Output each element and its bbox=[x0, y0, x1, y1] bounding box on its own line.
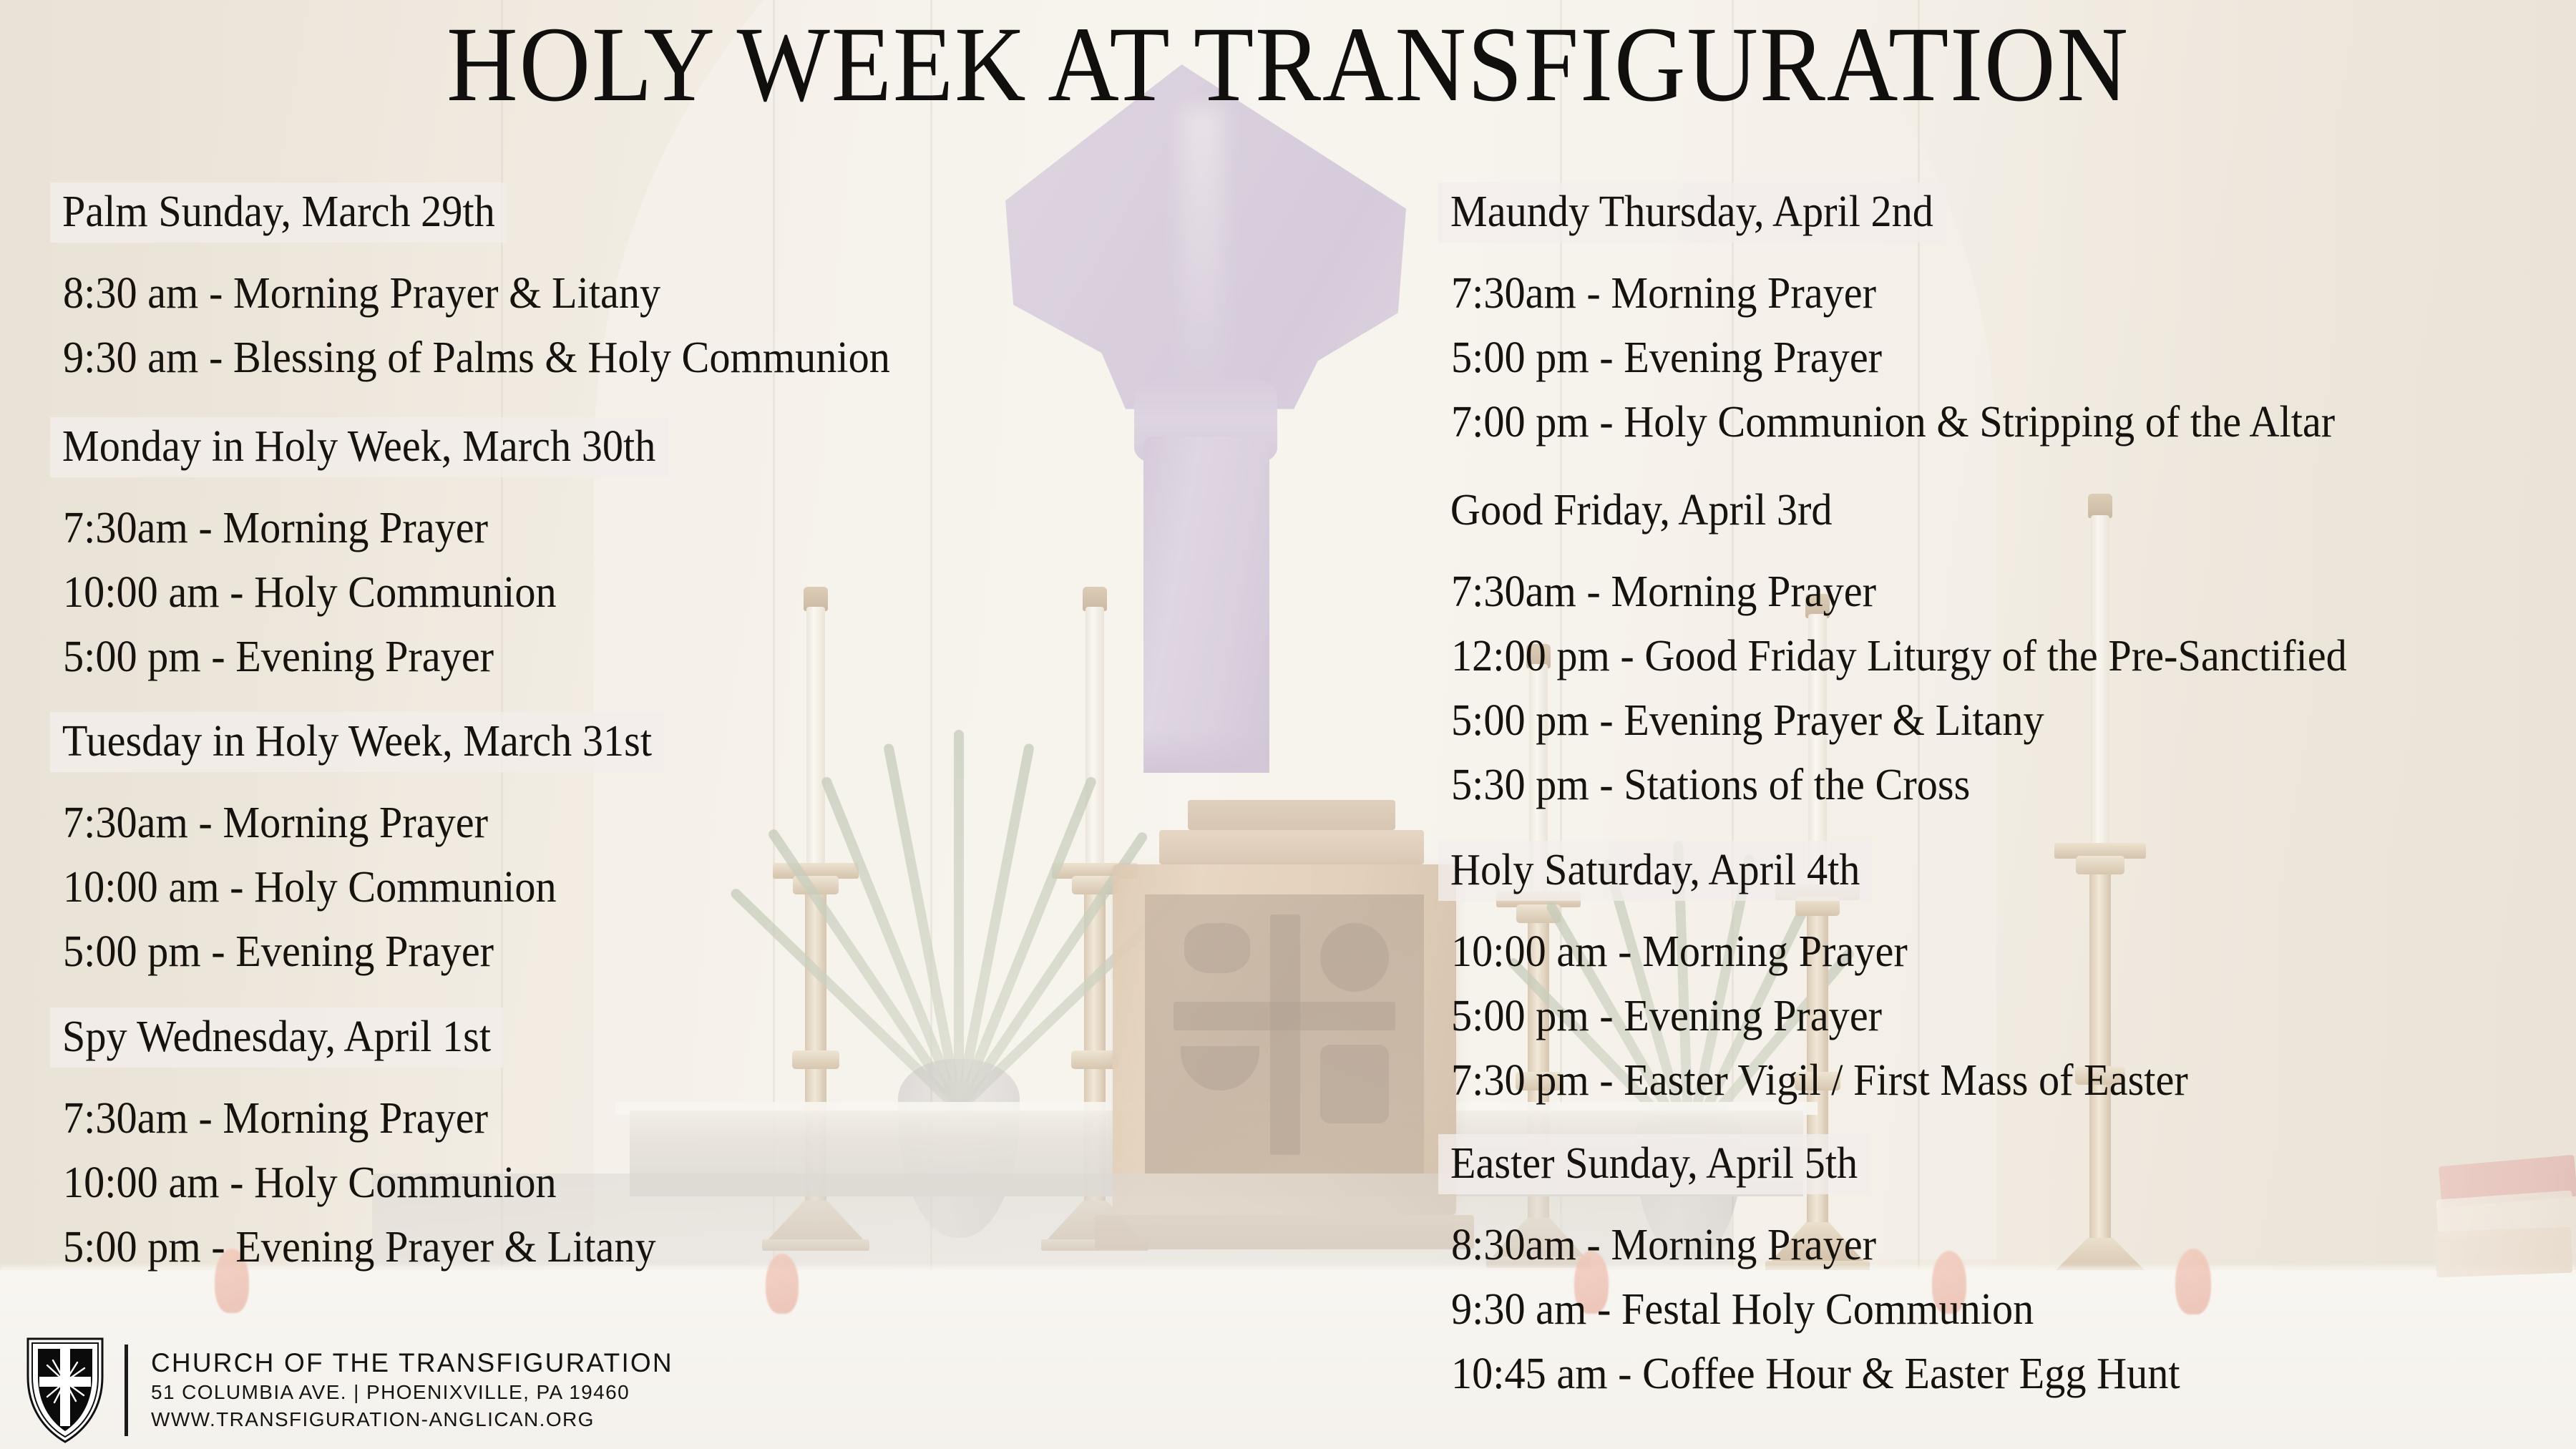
event-item: 10:00 am - Holy Communion bbox=[63, 865, 665, 909]
event-item: 7:30am - Morning Prayer bbox=[63, 1096, 656, 1141]
day-block-maundy-thursday: Maundy Thursday, April 2nd 7:30am - Morn… bbox=[1438, 182, 2391, 444]
day-block-tuesday: Tuesday in Holy Week, March 31st 7:30am … bbox=[50, 712, 703, 974]
event-item: 5:00 pm - Evening Prayer & Litany bbox=[63, 1225, 656, 1269]
event-item: 8:30 am - Morning Prayer & Litany bbox=[63, 271, 890, 316]
day-block-holy-saturday: Holy Saturday, April 4th 10:00 am - Morn… bbox=[1438, 841, 2235, 1103]
day-block-good-friday: Good Friday, April 3rd 7:30am - Morning … bbox=[1438, 481, 2404, 807]
event-item: 9:30 am - Festal Holy Communion bbox=[1451, 1287, 2180, 1332]
holy-week-poster: HOLY WEEK AT TRANSFIGURATION Palm Sunday… bbox=[0, 0, 2576, 1449]
day-block-easter-sunday: Easter Sunday, April 5th 8:30am - Mornin… bbox=[1438, 1134, 2227, 1396]
day-heading: Easter Sunday, April 5th bbox=[1438, 1134, 1870, 1194]
event-item: 10:00 am - Holy Communion bbox=[63, 1161, 656, 1205]
event-item: 5:00 pm - Evening Prayer & Litany bbox=[1451, 698, 2347, 743]
day-block-monday: Monday in Holy Week, March 30th 7:30am -… bbox=[50, 417, 707, 679]
event-item: 10:45 am - Coffee Hour & Easter Egg Hunt bbox=[1451, 1352, 2180, 1396]
day-heading: Monday in Holy Week, March 30th bbox=[50, 417, 668, 477]
day-heading: Spy Wednesday, April 1st bbox=[50, 1008, 503, 1068]
day-block-spy-wednesday: Spy Wednesday, April 1st 7:30am - Mornin… bbox=[50, 1008, 694, 1269]
church-address: 51 COLUMBIA AVE. | PHOENIXVILLE, PA 1946… bbox=[151, 1379, 673, 1406]
event-item: 7:00 pm - Holy Communion & Stripping of … bbox=[1451, 400, 2335, 444]
day-heading: Good Friday, April 3rd bbox=[1438, 481, 1844, 541]
day-heading: Maundy Thursday, April 2nd bbox=[1438, 182, 1946, 243]
page-title: HOLY WEEK AT TRANSFIGURATION bbox=[103, 4, 2473, 125]
event-item: 10:00 am - Morning Prayer bbox=[1451, 930, 2188, 974]
church-website[interactable]: WWW.TRANSFIGURATION-ANGLICAN.ORG bbox=[151, 1406, 673, 1433]
footer-branding: CHURCH OF THE TRANSFIGURATION 51 COLUMBI… bbox=[26, 1337, 673, 1444]
event-item: 5:00 pm - Evening Prayer bbox=[63, 635, 668, 679]
event-item: 10:00 am - Holy Communion bbox=[63, 570, 668, 615]
day-heading: Palm Sunday, March 29th bbox=[50, 182, 507, 243]
footer-divider bbox=[125, 1345, 128, 1436]
event-item: 5:00 pm - Evening Prayer bbox=[1451, 336, 2335, 380]
event-item: 7:30am - Morning Prayer bbox=[1451, 570, 2347, 614]
event-item: 5:00 pm - Evening Prayer bbox=[63, 930, 665, 974]
shield-cross-logo bbox=[26, 1337, 104, 1444]
event-item: 9:30 am - Blessing of Palms & Holy Commu… bbox=[63, 336, 890, 380]
church-name: CHURCH OF THE TRANSFIGURATION bbox=[151, 1347, 673, 1379]
event-item: 7:30am - Morning Prayer bbox=[1451, 271, 2335, 316]
event-item: 7:30 pm - Easter Vigil / First Mass of E… bbox=[1451, 1058, 2188, 1103]
day-block-palm-sunday: Palm Sunday, March 29th 8:30 am - Mornin… bbox=[50, 182, 943, 380]
day-heading: Tuesday in Holy Week, March 31st bbox=[50, 712, 664, 772]
day-heading: Holy Saturday, April 4th bbox=[1438, 841, 1872, 901]
event-item: 7:30am - Morning Prayer bbox=[63, 506, 668, 550]
event-item: 5:00 pm - Evening Prayer bbox=[1451, 994, 2188, 1038]
event-item: 5:30 pm - Stations of the Cross bbox=[1451, 763, 2347, 807]
event-item: 7:30am - Morning Prayer bbox=[63, 801, 665, 845]
event-item: 12:00 pm - Good Friday Liturgy of the Pr… bbox=[1451, 634, 2347, 678]
event-item: 8:30am - Morning Prayer bbox=[1451, 1223, 2180, 1267]
